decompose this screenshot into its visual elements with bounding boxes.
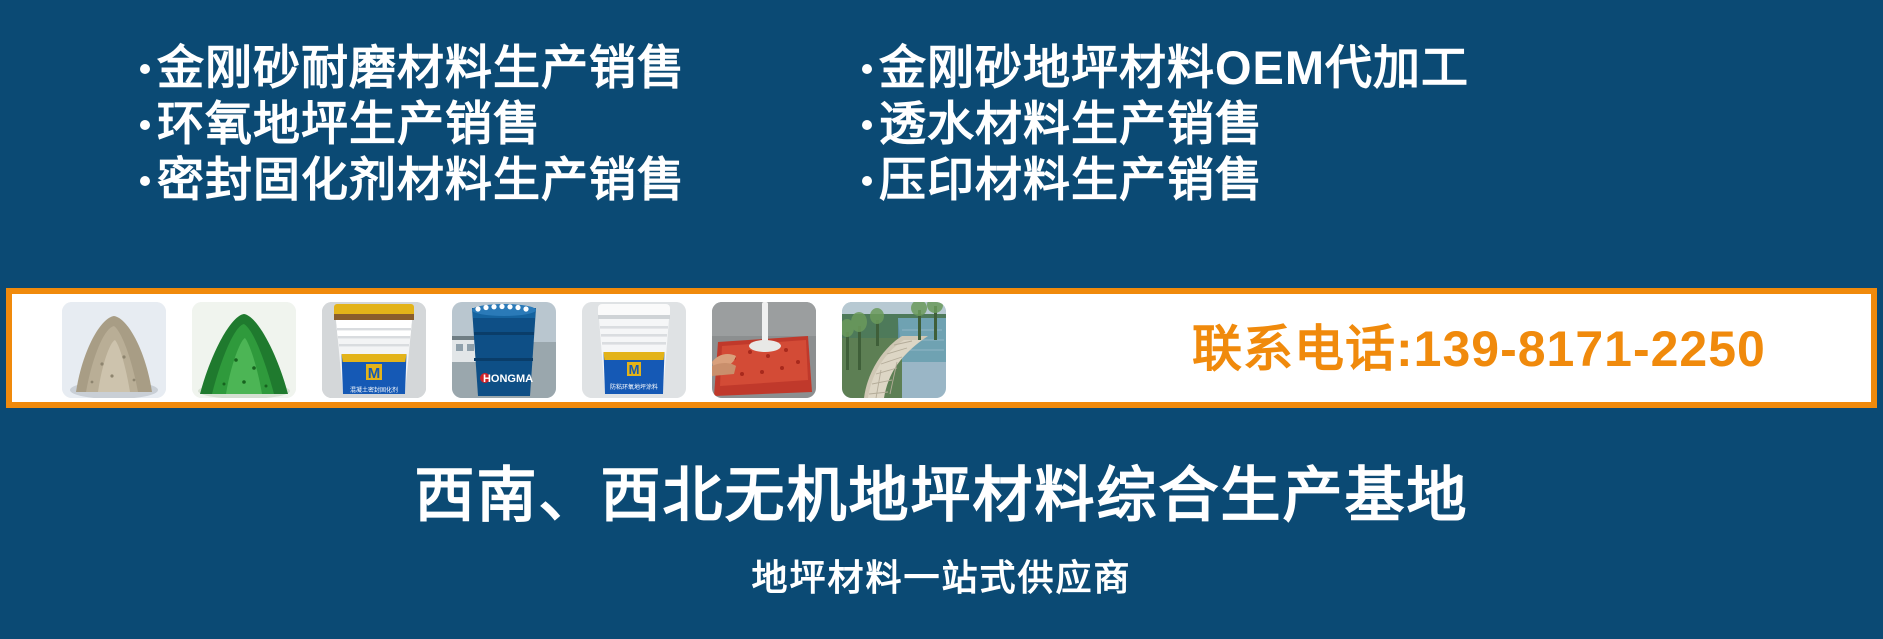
footer-section: 西南、西北无机地坪材料综合生产基地 地坪材料一站式供应商 <box>0 408 1883 639</box>
promotional-banner: 金刚砂耐磨材料生产销售 环氧地坪生产销售 密封固化剂材料生产销售 金刚砂地坪材料… <box>0 0 1883 639</box>
footer-subheadline: 地坪材料一站式供应商 <box>0 556 1883 600</box>
bucket-blue-hongma-image: HONGMA <box>452 302 556 398</box>
service-item: 金刚砂耐磨材料生产销售 <box>140 40 685 96</box>
product-thumbnail-row: M 混凝土密封固化剂 <box>62 302 946 398</box>
bucket-sealer-white-image: M 混凝土密封固化剂 <box>322 302 426 398</box>
service-label: 密封固化剂材料生产销售 <box>157 152 685 208</box>
bullet-dot-icon <box>862 120 872 130</box>
abrasive-powder-green-image <box>192 302 296 398</box>
service-item: 压印材料生产销售 <box>862 152 1469 208</box>
services-left-column: 金刚砂耐磨材料生产销售 环氧地坪生产销售 密封固化剂材料生产销售 <box>140 40 685 208</box>
services-right-column: 金刚砂地坪材料OEM代加工 透水材料生产销售 压印材料生产销售 <box>862 40 1469 208</box>
bullet-dot-icon <box>862 176 872 186</box>
stamped-concrete-path-image <box>842 302 946 398</box>
contact-phone-label: 联系电话:139-8171-2250 <box>1192 318 1766 380</box>
footer-headline: 西南、西北无机地坪材料综合生产基地 <box>0 461 1883 531</box>
service-item: 密封固化剂材料生产销售 <box>140 152 685 208</box>
red-permeable-paving-image <box>712 302 816 398</box>
service-item: 环氧地坪生产销售 <box>140 96 685 152</box>
service-label: 金刚砂耐磨材料生产销售 <box>157 40 685 96</box>
bullet-dot-icon <box>862 64 872 74</box>
service-item: 金刚砂地坪材料OEM代加工 <box>862 40 1469 96</box>
abrasive-powder-gray-image <box>62 302 166 398</box>
bullet-dot-icon <box>140 176 150 186</box>
service-label: 透水材料生产销售 <box>879 96 1263 152</box>
bucket-epoxy-coating-image: M 防粘环氧地坪涂料 <box>582 302 686 398</box>
bucket-logo-letter: M <box>629 362 640 377</box>
service-label: 压印材料生产销售 <box>879 152 1263 208</box>
bucket-blue-brand: HONGMA <box>483 373 533 385</box>
services-section: 金刚砂耐磨材料生产销售 环氧地坪生产销售 密封固化剂材料生产销售 金刚砂地坪材料… <box>0 0 1883 290</box>
bullet-dot-icon <box>140 64 150 74</box>
service-item: 透水材料生产销售 <box>862 96 1469 152</box>
bullet-dot-icon <box>140 120 150 130</box>
service-label: 金刚砂地坪材料OEM代加工 <box>879 40 1469 96</box>
product-showcase-strip: M 混凝土密封固化剂 <box>6 288 1877 408</box>
bucket-epoxy-label: 防粘环氧地坪涂料 <box>610 383 658 391</box>
bucket-sealer-label: 混凝土密封固化剂 <box>350 386 398 394</box>
bucket-logo-letter: M <box>368 365 381 382</box>
service-label: 环氧地坪生产销售 <box>157 96 541 152</box>
